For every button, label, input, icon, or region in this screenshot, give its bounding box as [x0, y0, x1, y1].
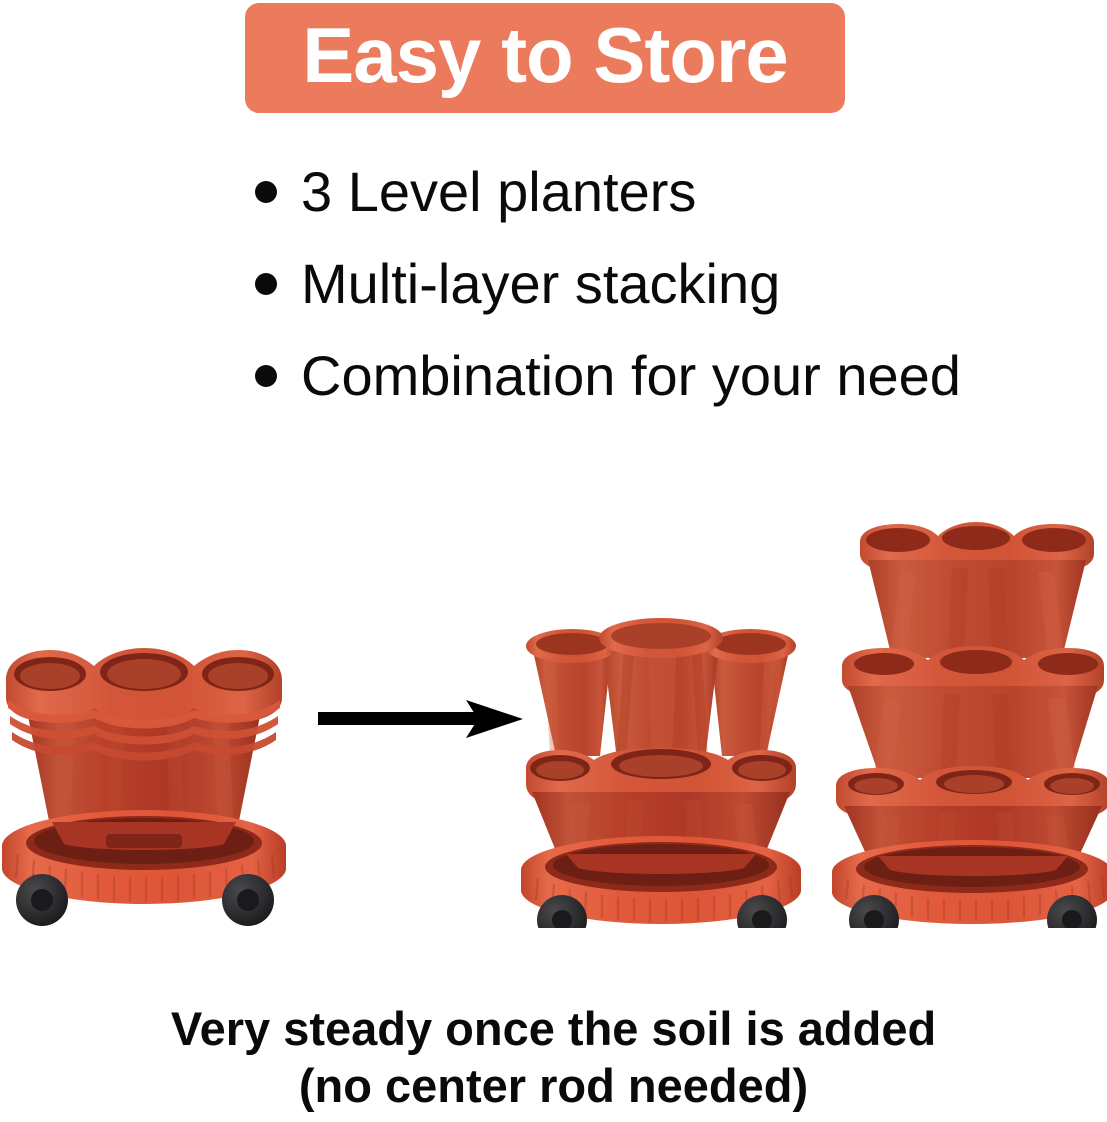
- planter-two-level: [516, 608, 806, 928]
- caption-line-2: (no center rod needed): [0, 1057, 1107, 1114]
- caster-wheel: [16, 874, 68, 926]
- bullet-dot-icon: [255, 365, 277, 387]
- caption-line-1: Very steady once the soil is added: [0, 1000, 1107, 1057]
- product-scene: [0, 470, 1107, 940]
- title-banner: Easy to Store: [245, 3, 845, 113]
- bullet-dot-icon: [255, 181, 277, 203]
- feature-list: 3 Level planters Multi-layer stacking Co…: [255, 146, 1075, 422]
- list-item: Multi-layer stacking: [255, 238, 1075, 330]
- page-title: Easy to Store: [302, 16, 788, 100]
- bullet-dot-icon: [255, 273, 277, 295]
- planter-three-level: [826, 508, 1107, 928]
- feature-label: 3 Level planters: [301, 164, 696, 220]
- planter-single-level: [0, 638, 290, 928]
- feature-label: Combination for your need: [301, 348, 961, 404]
- right-arrow-icon: [318, 698, 523, 740]
- list-item: Combination for your need: [255, 330, 1075, 422]
- infographic-page: Easy to Store 3 Level planters Multi-lay…: [0, 0, 1107, 1122]
- feature-label: Multi-layer stacking: [301, 256, 780, 312]
- list-item: 3 Level planters: [255, 146, 1075, 238]
- caster-wheel: [222, 874, 274, 926]
- bottom-caption: Very steady once the soil is added (no c…: [0, 1000, 1107, 1115]
